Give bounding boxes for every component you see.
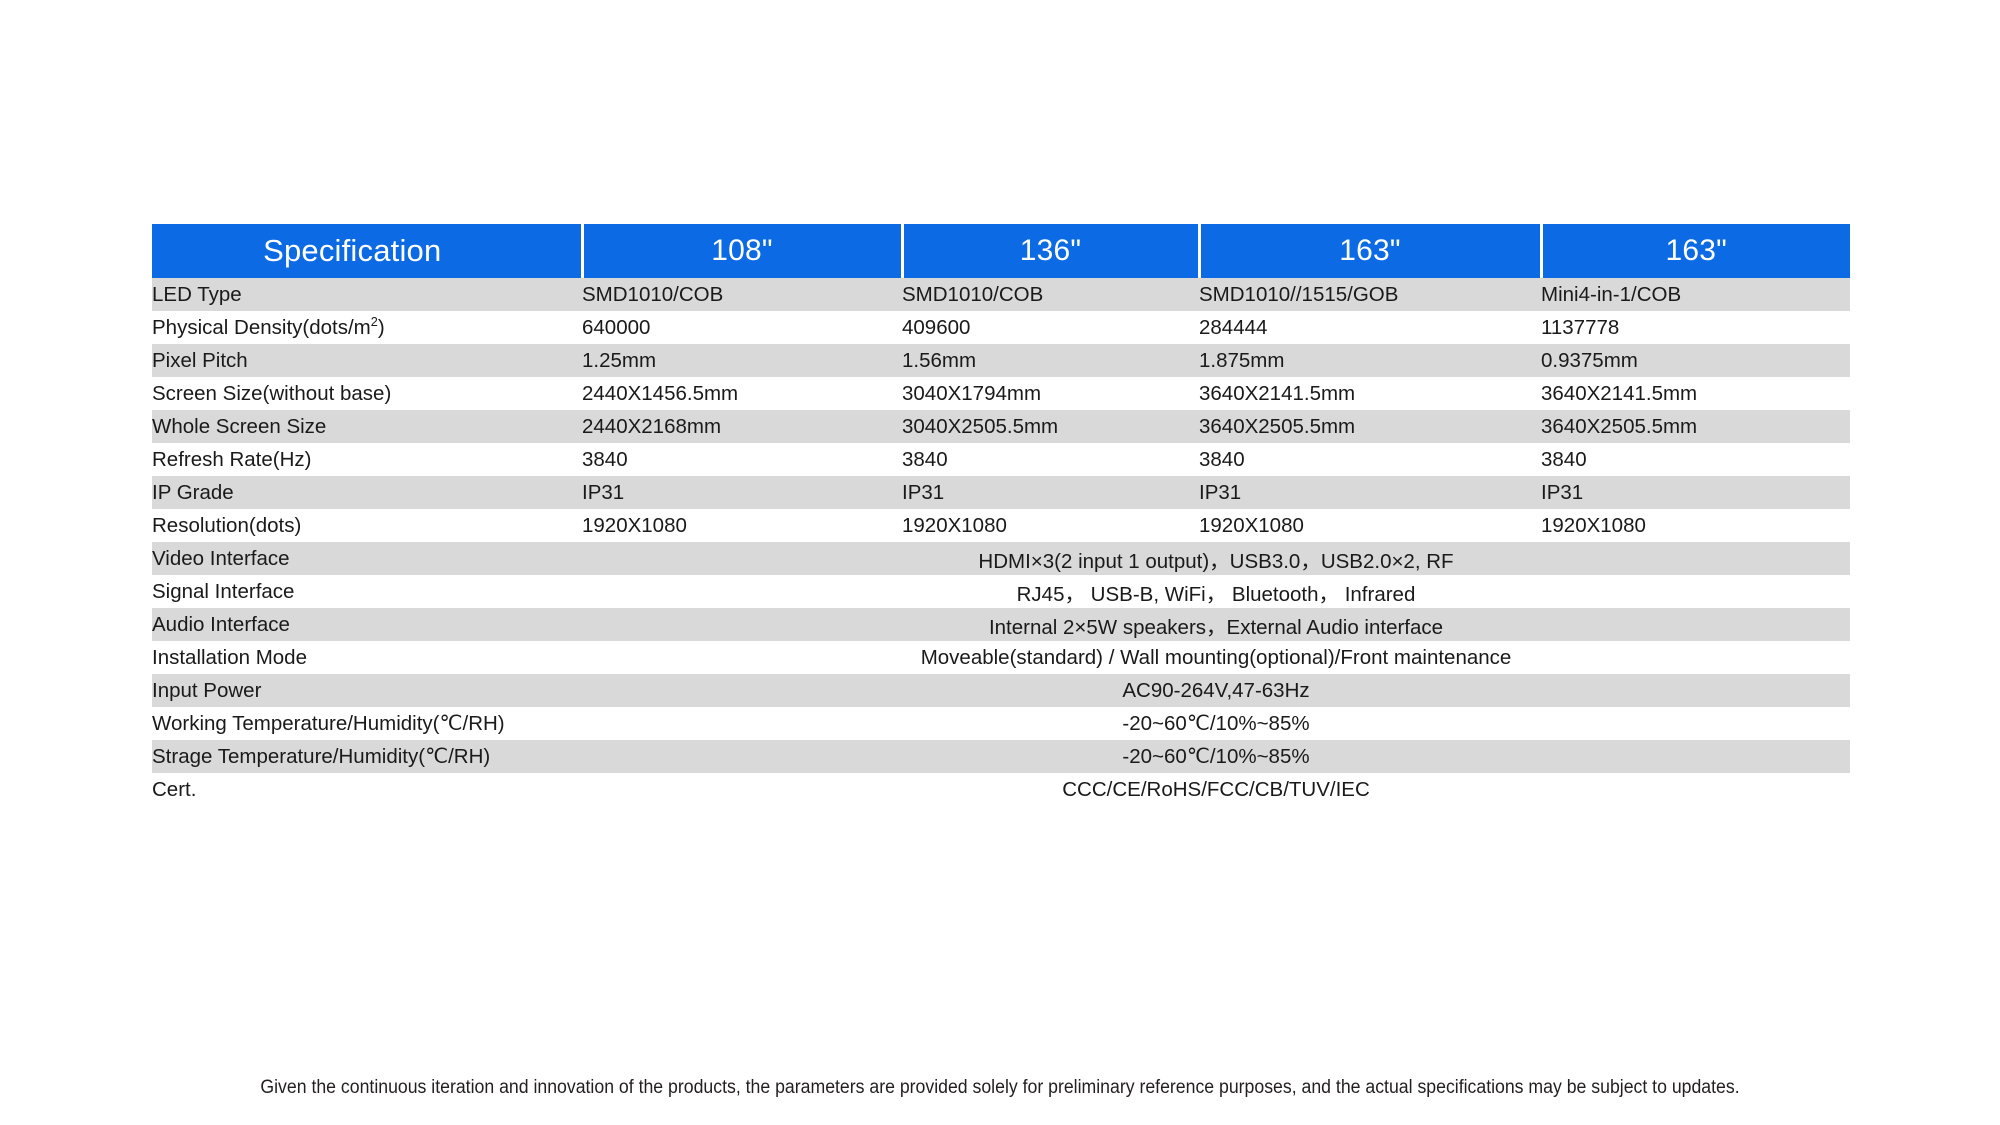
- row-label: Strage Temperature/Humidity(℃/RH): [152, 740, 582, 773]
- row-value: 2440X2168mm: [582, 410, 902, 443]
- header-model-108: 108": [582, 224, 902, 278]
- row-value: IP31: [582, 476, 902, 509]
- row-value: 1920X1080: [1199, 509, 1541, 542]
- row-value-merged: -20~60℃/10%~85%: [582, 707, 1850, 740]
- row-label: LED Type: [152, 278, 582, 311]
- table-row: Physical Density(dots/m2)640000409600284…: [152, 311, 1850, 344]
- row-label: Working Temperature/Humidity(℃/RH): [152, 707, 582, 740]
- table-row: Screen Size(without base)2440X1456.5mm30…: [152, 377, 1850, 410]
- table-row: Input PowerAC90-264V,47-63Hz: [152, 674, 1850, 707]
- row-value-merged: Internal 2×5W speakers，External Audio in…: [582, 608, 1850, 641]
- header-row: Specification 108" 136" 163" 163": [152, 224, 1850, 278]
- row-label: IP Grade: [152, 476, 582, 509]
- row-value-merged: AC90-264V,47-63Hz: [582, 674, 1850, 707]
- table-row: Working Temperature/Humidity(℃/RH)-20~60…: [152, 707, 1850, 740]
- row-value-merged: Moveable(standard) / Wall mounting(optio…: [582, 641, 1850, 674]
- row-value: 3040X1794mm: [902, 377, 1199, 410]
- header-model-163-mini: 163": [1541, 224, 1850, 278]
- row-value: 1137778: [1541, 311, 1850, 344]
- row-value: 3640X2505.5mm: [1199, 410, 1541, 443]
- row-value-merged: CCC/CE/RoHS/FCC/CB/TUV/IEC: [582, 773, 1850, 806]
- table-row: IP GradeIP31IP31IP31IP31: [152, 476, 1850, 509]
- row-label: Whole Screen Size: [152, 410, 582, 443]
- row-value: SMD1010/COB: [582, 278, 902, 311]
- table-row: Refresh Rate(Hz)3840384038403840: [152, 443, 1850, 476]
- row-value: 640000: [582, 311, 902, 344]
- row-value: 3640X2141.5mm: [1541, 377, 1850, 410]
- row-value: 3840: [582, 443, 902, 476]
- row-value: 1920X1080: [1541, 509, 1850, 542]
- row-value: 3840: [1541, 443, 1850, 476]
- row-label: Installation Mode: [152, 641, 582, 674]
- specification-table: Specification 108" 136" 163" 163" LED Ty…: [152, 224, 1850, 806]
- table-row: Video InterfaceHDMI×3(2 input 1 output)，…: [152, 542, 1850, 575]
- row-label: Signal Interface: [152, 575, 582, 608]
- disclaimer-text: Given the continuous iteration and innov…: [70, 1077, 1930, 1099]
- table-body: LED TypeSMD1010/COBSMD1010/COBSMD1010//1…: [152, 278, 1850, 806]
- row-value: Mini4-in-1/COB: [1541, 278, 1850, 311]
- row-label: Audio Interface: [152, 608, 582, 641]
- row-label: Screen Size(without base): [152, 377, 582, 410]
- row-value: IP31: [1199, 476, 1541, 509]
- row-label: Cert.: [152, 773, 582, 806]
- row-value: 3640X2141.5mm: [1199, 377, 1541, 410]
- row-value: 3640X2505.5mm: [1541, 410, 1850, 443]
- table-row: Whole Screen Size2440X2168mm3040X2505.5m…: [152, 410, 1850, 443]
- row-value: SMD1010/COB: [902, 278, 1199, 311]
- row-value: 1.56mm: [902, 344, 1199, 377]
- table-row: Pixel Pitch1.25mm1.56mm1.875mm0.9375mm: [152, 344, 1850, 377]
- header-model-163-smd: 163": [1199, 224, 1541, 278]
- row-label: Pixel Pitch: [152, 344, 582, 377]
- row-value: 3840: [1199, 443, 1541, 476]
- row-value-merged: HDMI×3(2 input 1 output)，USB3.0，USB2.0×2…: [582, 542, 1850, 575]
- row-value: 2440X1456.5mm: [582, 377, 902, 410]
- superscript-two: 2: [371, 314, 378, 329]
- table-row: Signal InterfaceRJ45， USB-B, WiFi， Bluet…: [152, 575, 1850, 608]
- table-row: Installation ModeMoveable(standard) / Wa…: [152, 641, 1850, 674]
- table-row: Cert.CCC/CE/RoHS/FCC/CB/TUV/IEC: [152, 773, 1850, 806]
- row-value: 0.9375mm: [1541, 344, 1850, 377]
- row-value: IP31: [902, 476, 1199, 509]
- row-value-merged: RJ45， USB-B, WiFi， Bluetooth， Infrared: [582, 575, 1850, 608]
- table-row: Resolution(dots)1920X10801920X10801920X1…: [152, 509, 1850, 542]
- spec-sheet: Specification 108" 136" 163" 163" LED Ty…: [0, 0, 2000, 1125]
- table-row: Strage Temperature/Humidity(℃/RH)-20~60℃…: [152, 740, 1850, 773]
- row-value: 3840: [902, 443, 1199, 476]
- row-value: IP31: [1541, 476, 1850, 509]
- row-value: 3040X2505.5mm: [902, 410, 1199, 443]
- row-value: 409600: [902, 311, 1199, 344]
- row-label: Resolution(dots): [152, 509, 582, 542]
- row-value: 1.875mm: [1199, 344, 1541, 377]
- row-label: Input Power: [152, 674, 582, 707]
- header-model-136: 136": [902, 224, 1199, 278]
- row-value: 284444: [1199, 311, 1541, 344]
- row-value: 1920X1080: [582, 509, 902, 542]
- row-label: Physical Density(dots/m2): [152, 311, 582, 344]
- row-value: SMD1010//1515/GOB: [1199, 278, 1541, 311]
- row-label: Video Interface: [152, 542, 582, 575]
- header-specification: Specification: [152, 224, 582, 278]
- row-label: Refresh Rate(Hz): [152, 443, 582, 476]
- table-header: Specification 108" 136" 163" 163": [152, 224, 1850, 278]
- row-value: 1.25mm: [582, 344, 902, 377]
- table-row: LED TypeSMD1010/COBSMD1010/COBSMD1010//1…: [152, 278, 1850, 311]
- row-value-merged: -20~60℃/10%~85%: [582, 740, 1850, 773]
- row-value: 1920X1080: [902, 509, 1199, 542]
- table-row: Audio InterfaceInternal 2×5W speakers，Ex…: [152, 608, 1850, 641]
